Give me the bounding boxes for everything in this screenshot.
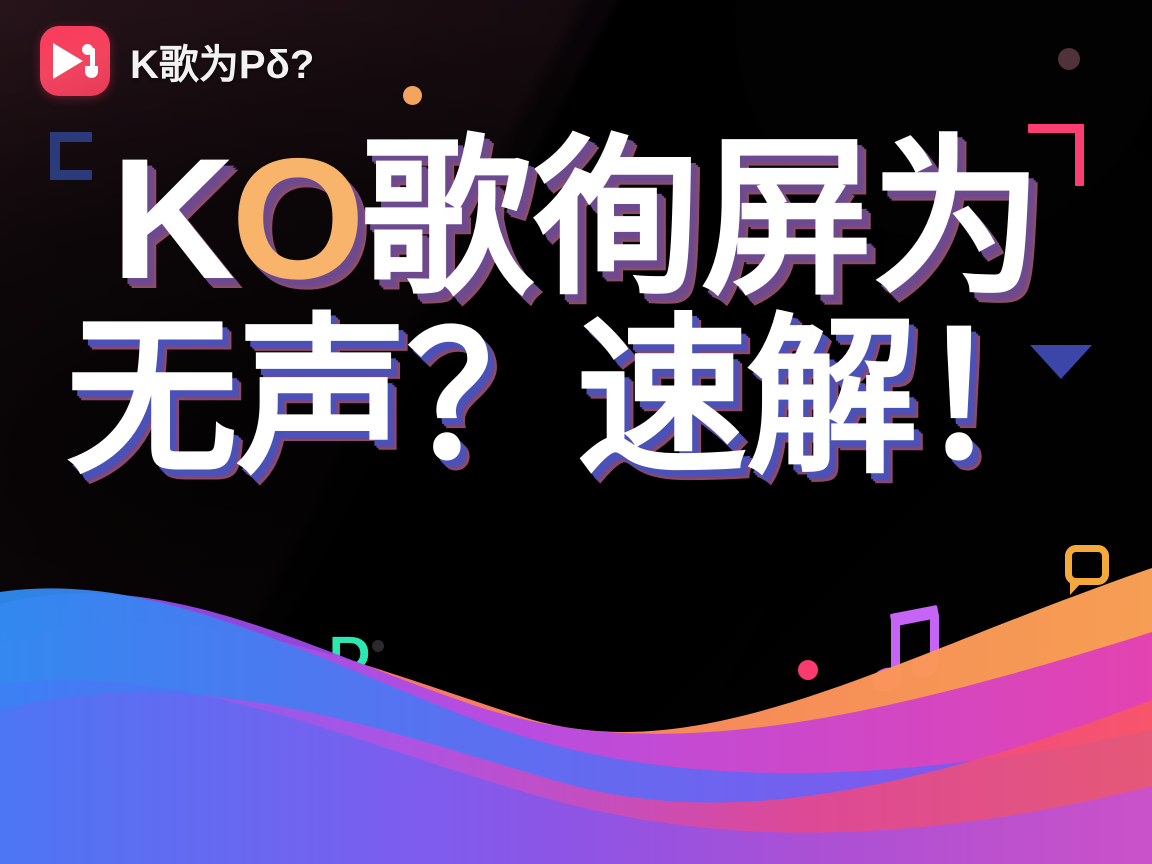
bottom-waves [0, 534, 1152, 864]
headline-line-1-rest: 歌徇屏为 [361, 123, 1041, 315]
play-triangle-icon [53, 43, 83, 79]
headline-letter-k: K [111, 123, 231, 315]
poster-canvas: P K歌为Pδ? KO歌徇屏为 无声？速解！ [0, 0, 1152, 864]
headline-letter-o: O [231, 123, 361, 315]
headline-line-2: 无声？速解！ [46, 311, 1106, 486]
dot-orange-top [403, 86, 422, 105]
play-music-logo-icon[interactable] [40, 26, 110, 96]
headline: KO歌徇屏为 无声？速解！ [0, 132, 1152, 487]
header: K歌为Pδ? [40, 26, 314, 96]
logo-note-tail [85, 66, 98, 78]
dot-maroon-top-right [1058, 48, 1080, 70]
brand-title: K歌为Pδ? [130, 32, 314, 90]
waves-svg [0, 534, 1152, 864]
headline-line-1: KO歌徇屏为 [46, 132, 1106, 307]
